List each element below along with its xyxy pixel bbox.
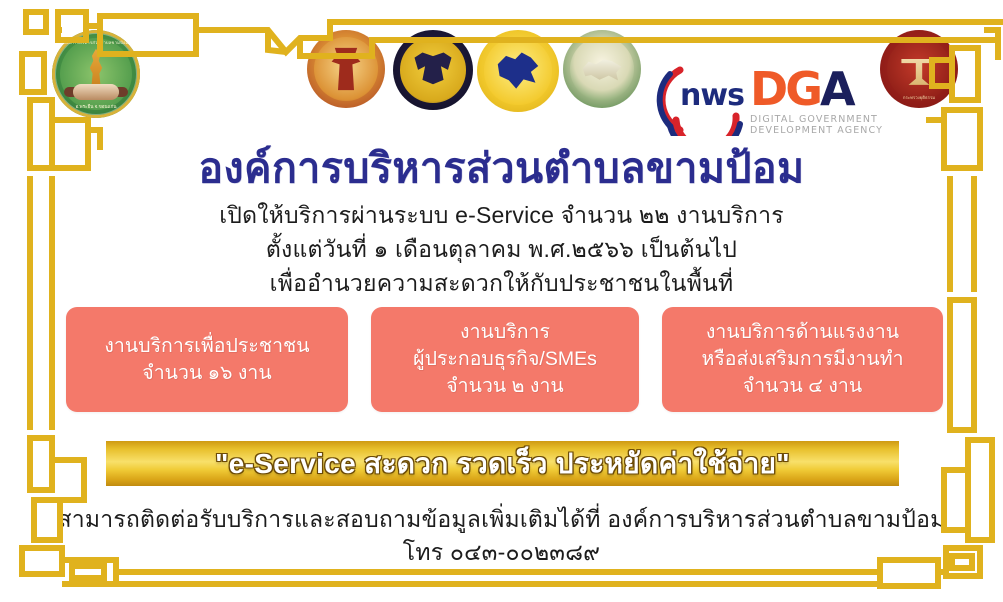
footer-phone-line: โทร ๐๔๓-๐๐๒๓๘๙ bbox=[0, 536, 1003, 569]
slogan-banner: "e-Service สะดวก รวดเร็ว ประหยัดค่าใช้จ่… bbox=[106, 441, 899, 486]
seal-body: องค์การบริหารส่วนตำบลขามป้อม อ.พระยืน จ.… bbox=[52, 30, 140, 118]
service-box-line: ผู้ประกอบธุรกิจ/SMEs bbox=[413, 346, 597, 373]
service-box-business-smes: งานบริการ ผู้ประกอบธุรกิจ/SMEs จำนวน ๒ ง… bbox=[371, 307, 639, 412]
seal-body bbox=[477, 30, 559, 112]
subtitle-line-1: เปิดให้บริการผ่านระบบ e-Service จำนวน ๒๒… bbox=[0, 198, 1003, 232]
logo-department-of-provincial-administration-seal bbox=[563, 30, 641, 108]
service-box-line: งานบริการเพื่อประชาชน bbox=[104, 333, 309, 360]
seal-body bbox=[393, 30, 473, 110]
logo-nws: nws bbox=[650, 64, 746, 136]
seal-bottom-text: อ.พระยืน จ.ขอนแก่น bbox=[52, 104, 140, 111]
footer-contact-line: สามารถติดต่อรับบริการและสอบถามข้อมูลเพิ่… bbox=[0, 503, 1003, 536]
footer-contact-block: สามารถติดต่อรับบริการและสอบถามข้อมูลเพิ่… bbox=[0, 503, 1003, 569]
service-box-labour: งานบริการด้านแรงงาน หรือส่งเสริมการมีงาน… bbox=[662, 307, 943, 412]
service-category-boxes: งานบริการเพื่อประชาชน จำนวน ๑๖ งาน งานบร… bbox=[66, 307, 943, 412]
page-title: องค์การบริหารส่วนตำบลขามป้อม bbox=[0, 136, 1003, 201]
seal-body: สำนักงาน กระทรวงยุติธรรม bbox=[880, 30, 958, 108]
service-box-line: งานบริการ bbox=[460, 319, 550, 346]
seal-bottom-text: กระทรวงยุติธรรม bbox=[880, 94, 958, 101]
seal-top-text: สำนักงาน bbox=[880, 38, 958, 45]
logo-dga: DGA DIGITAL GOVERNMENT DEVELOPMENT AGENC… bbox=[750, 66, 883, 136]
handshake-icon bbox=[73, 84, 119, 100]
nws-mark: nws bbox=[650, 64, 746, 136]
service-box-count: จำนวน ๑๖ งาน bbox=[142, 360, 271, 387]
service-box-line: งานบริการด้านแรงงาน bbox=[706, 319, 899, 346]
logo-department-of-local-administration-seal bbox=[393, 30, 473, 110]
slogan-text: "e-Service สะดวก รวดเร็ว ประหยัดค่าใช้จ่… bbox=[215, 442, 790, 486]
seal-top-text: องค์การบริหารส่วนตำบลขามป้อม bbox=[52, 39, 140, 46]
nws-wordmark: nws bbox=[680, 78, 744, 113]
service-box-count: จำนวน ๒ งาน bbox=[446, 373, 563, 400]
subtitle-block: เปิดให้บริการผ่านระบบ e-Service จำนวน ๒๒… bbox=[0, 198, 1003, 300]
seal-body bbox=[563, 30, 641, 108]
service-box-citizens: งานบริการเพื่อประชาชน จำนวน ๑๖ งาน bbox=[66, 307, 348, 412]
logo-ministry-of-interior-seal bbox=[307, 30, 385, 108]
poster-canvas: องค์การบริหารส่วนตำบลขามป้อม อ.พระยืน จ.… bbox=[0, 0, 1003, 602]
service-box-line: หรือส่งเสริมการมีงานทำ bbox=[701, 346, 903, 373]
service-box-count: จำนวน ๔ งาน bbox=[743, 373, 862, 400]
subtitle-line-2: ตั้งแต่วันที่ ๑ เดือนตุลาคม พ.ศ.๒๕๖๖ เป็… bbox=[0, 232, 1003, 266]
subtitle-line-3: เพื่ออำนวยความสะดวกให้กับประชาชนในพื้นที… bbox=[0, 266, 1003, 300]
seal-body bbox=[307, 30, 385, 108]
logo-ministry-of-justice-seal: สำนักงาน กระทรวงยุติธรรม bbox=[880, 30, 958, 108]
logo-subdistrict-administrative-organization-seal: องค์การบริหารส่วนตำบลขามป้อม อ.พระยืน จ.… bbox=[52, 30, 140, 118]
agency-logo-row: องค์การบริหารส่วนตำบลขามป้อม อ.พระยืน จ.… bbox=[0, 30, 1003, 140]
dga-subline-2: DEVELOPMENT AGENCY bbox=[750, 125, 883, 136]
dga-subline-1: DIGITAL GOVERNMENT bbox=[750, 114, 883, 125]
logo-provincial-singha-seal bbox=[477, 30, 559, 112]
dga-wordmark: DGA bbox=[750, 66, 883, 112]
